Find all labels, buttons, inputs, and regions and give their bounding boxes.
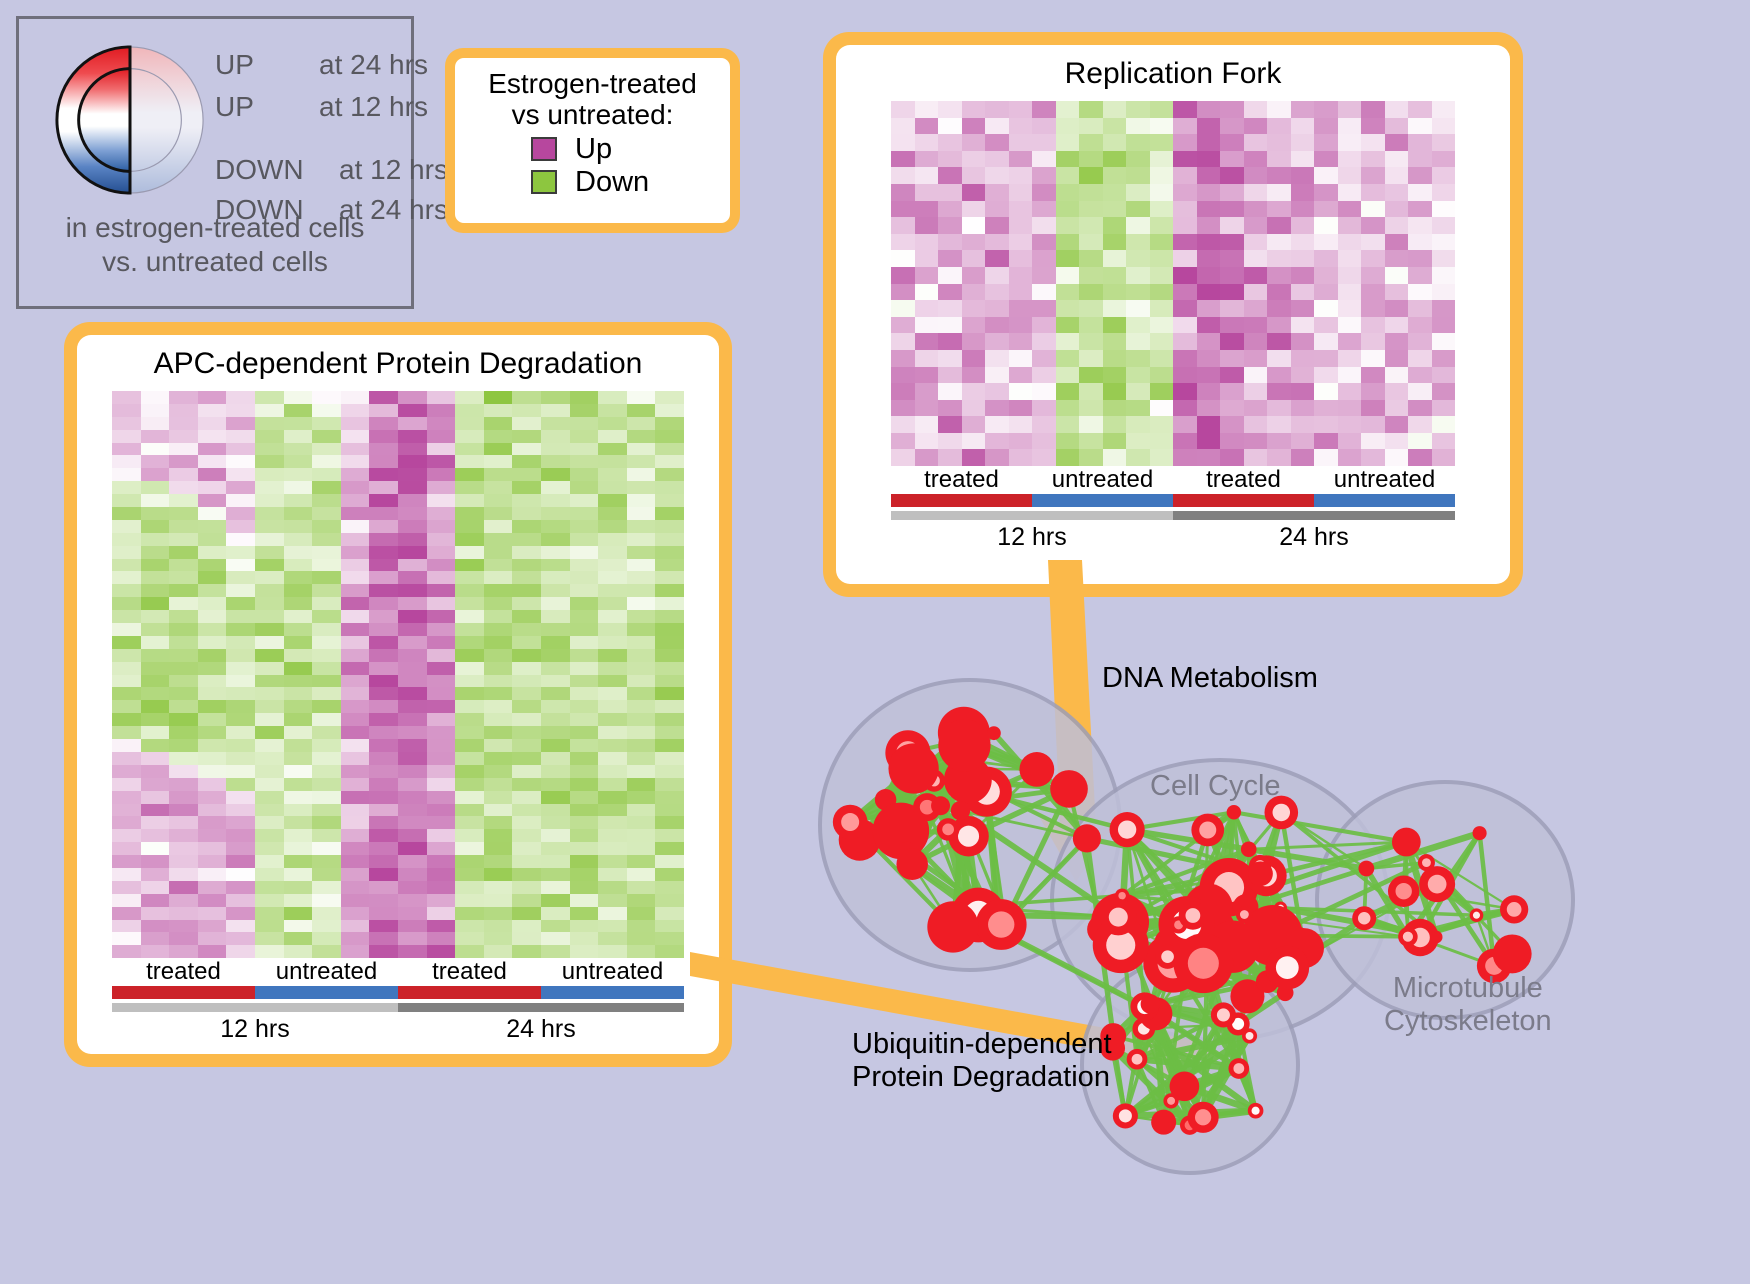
network-node[interactable]	[1211, 1002, 1236, 1027]
heatmap-cell	[112, 945, 141, 958]
heatmap-cell	[484, 829, 513, 842]
heatmap-cell	[398, 765, 427, 778]
heatmap-cell	[915, 118, 939, 135]
heatmap-cell	[255, 855, 284, 868]
heatmap-cell	[541, 494, 570, 507]
heatmap-cell	[655, 765, 684, 778]
heatmap-cell	[1408, 234, 1432, 251]
heatmap-cell	[627, 700, 656, 713]
heatmap-cell	[255, 559, 284, 572]
heatmap-cell	[1056, 284, 1080, 301]
heatmap-cell	[1173, 350, 1197, 367]
heatmap-cell	[1079, 167, 1103, 184]
heatmap-cell	[570, 881, 599, 894]
heatmap-cell	[169, 507, 198, 520]
heatmap-cell	[312, 636, 341, 649]
heatmap-cell	[1197, 367, 1221, 384]
heatmap-cell	[1267, 134, 1291, 151]
heatmap-cell	[255, 687, 284, 700]
heatmap-cell	[141, 430, 170, 443]
heatmap-cell	[1056, 234, 1080, 251]
network-node[interactable]	[1227, 805, 1241, 819]
network-node[interactable]	[1500, 895, 1528, 923]
network-node[interactable]	[1179, 901, 1207, 929]
heatmap-cell	[398, 430, 427, 443]
network-node[interactable]	[1187, 1102, 1218, 1133]
condition-label: untreated	[541, 958, 684, 986]
heatmap-cell	[627, 713, 656, 726]
heatmap-cell	[255, 932, 284, 945]
heatmap-cell	[1385, 400, 1409, 417]
heatmap-cell	[398, 571, 427, 584]
heatmap-cell	[341, 675, 370, 688]
heatmap-cell	[1244, 383, 1268, 400]
heatmap-cell	[985, 367, 1009, 384]
heatmap-cell	[1173, 284, 1197, 301]
heatmap-cell	[1173, 449, 1197, 466]
heatmap-cell	[369, 571, 398, 584]
heatmap-cell	[1103, 383, 1127, 400]
heatmap-cell	[398, 945, 427, 958]
heatmap-cell	[1150, 134, 1174, 151]
network-node[interactable]	[1392, 828, 1421, 857]
heatmap-cell	[1291, 134, 1315, 151]
network-node[interactable]	[1170, 1071, 1200, 1101]
heatmap-cell	[962, 383, 986, 400]
heatmap-cell	[1009, 167, 1033, 184]
heatmap-cell	[1338, 184, 1362, 201]
heatmap-cell	[891, 400, 915, 417]
heatmap-cell	[255, 881, 284, 894]
heatmap-cell	[1009, 433, 1033, 450]
apc-degradation-axis: treateduntreatedtreateduntreated12 hrs24…	[112, 958, 684, 1044]
heatmap-cell	[570, 907, 599, 920]
condition-label: treated	[1173, 466, 1314, 494]
heatmap-cell	[255, 920, 284, 933]
heatmap-cell	[985, 416, 1009, 433]
network-node[interactable]	[931, 796, 950, 815]
heatmap-cell	[1408, 284, 1432, 301]
heatmap-cell	[198, 739, 227, 752]
heatmap-cell	[112, 687, 141, 700]
heatmap-cell	[427, 894, 456, 907]
network-node[interactable]	[1236, 906, 1253, 923]
heatmap-cell	[627, 881, 656, 894]
heatmap-cell	[1361, 250, 1385, 267]
heatmap-cell	[1150, 300, 1174, 317]
heatmap-cell	[1197, 333, 1221, 350]
network-node[interactable]	[1110, 812, 1145, 847]
heatmap-cell	[312, 778, 341, 791]
heatmap-cell	[570, 752, 599, 765]
network-node[interactable]	[1050, 770, 1088, 808]
heatmap-cell	[541, 816, 570, 829]
heatmap-cell	[255, 700, 284, 713]
heatmap-cell	[1314, 167, 1338, 184]
heatmap-cell	[369, 804, 398, 817]
heatmap-cell	[1408, 184, 1432, 201]
heatmap-cell	[1032, 118, 1056, 135]
network-node[interactable]	[1191, 814, 1224, 847]
heatmap-cell	[226, 559, 255, 572]
heatmap-cell	[1432, 416, 1456, 433]
network-node[interactable]	[1470, 908, 1484, 922]
heatmap-cell	[1009, 234, 1033, 251]
heatmap-cell	[427, 855, 456, 868]
heatmap-cell	[312, 868, 341, 881]
heatmap-cell	[570, 546, 599, 559]
heatmap-cell	[341, 829, 370, 842]
heatmap-cell	[169, 739, 198, 752]
heatmap-cell	[141, 687, 170, 700]
heatmap-cell	[427, 868, 456, 881]
heatmap-cell	[169, 752, 198, 765]
heatmap-cell	[541, 391, 570, 404]
heatmap-cell	[112, 468, 141, 481]
heatmap-cell	[341, 816, 370, 829]
heatmap-cell	[484, 443, 513, 456]
network-node[interactable]	[888, 743, 938, 793]
heatmap-cell	[1338, 300, 1362, 317]
heatmap-cell	[1220, 300, 1244, 317]
heatmap-cell	[484, 700, 513, 713]
heatmap-cell	[226, 636, 255, 649]
heatmap-cell	[226, 932, 255, 945]
heatmap-cell	[169, 455, 198, 468]
network-node[interactable]	[938, 719, 990, 771]
heatmap-cell	[1220, 118, 1244, 135]
heatmap-cell	[1079, 400, 1103, 417]
heatmap-cell	[369, 455, 398, 468]
heatmap-cell	[1432, 151, 1456, 168]
heatmap-cell	[112, 481, 141, 494]
heatmap-cell	[1079, 184, 1103, 201]
heatmap-cell	[312, 443, 341, 456]
heatmap-cell	[398, 597, 427, 610]
heatmap-cell	[512, 932, 541, 945]
heatmap-cell	[1314, 217, 1338, 234]
heatmap-cell	[255, 662, 284, 675]
heatmap-cell	[1009, 333, 1033, 350]
heatmap-cell	[541, 700, 570, 713]
heatmap-cell	[226, 443, 255, 456]
replication-fork-axis: treateduntreatedtreateduntreated12 hrs24…	[891, 466, 1455, 552]
heatmap-cell	[915, 300, 939, 317]
network-node[interactable]	[1242, 1028, 1257, 1043]
heatmap-cell	[1432, 300, 1456, 317]
network-node[interactable]	[1493, 934, 1532, 973]
heatmap-cell	[398, 842, 427, 855]
heatmap-cell	[169, 571, 198, 584]
heatmap-cell	[627, 417, 656, 430]
heatmap-cell	[427, 584, 456, 597]
heatmap-cell	[169, 687, 198, 700]
heatmap-cell	[1032, 101, 1056, 118]
network-node[interactable]	[1127, 1049, 1148, 1070]
heatmap-cell	[512, 443, 541, 456]
heatmap-cell	[255, 636, 284, 649]
heatmap-cell	[570, 700, 599, 713]
heatmap-cell	[455, 546, 484, 559]
heatmap-cell	[169, 417, 198, 430]
network-node[interactable]	[1248, 861, 1273, 886]
heatmap-cell	[1220, 151, 1244, 168]
heatmap-cell	[369, 881, 398, 894]
network-node[interactable]	[1073, 824, 1101, 852]
heatmap-cell	[427, 829, 456, 842]
heatmap-cell	[1197, 151, 1221, 168]
heatmap-cell	[198, 443, 227, 456]
heatmap-cell	[1244, 234, 1268, 251]
heatmap-cell	[541, 791, 570, 804]
heatmap-cell	[1291, 250, 1315, 267]
heatmap-cell	[255, 391, 284, 404]
heatmap-cell	[398, 455, 427, 468]
heatmap-cell	[1197, 400, 1221, 417]
heatmap-cell	[1338, 350, 1362, 367]
heatmap-cell	[226, 404, 255, 417]
network-node[interactable]	[1358, 861, 1374, 877]
heatmap-cell	[1126, 118, 1150, 135]
heatmap-cell	[627, 404, 656, 417]
heatmap-cell	[598, 546, 627, 559]
heatmap-cell	[1408, 300, 1432, 317]
heatmap-cell	[541, 507, 570, 520]
heatmap-cell	[198, 520, 227, 533]
heatmap-cell	[369, 610, 398, 623]
heatmap-cell	[455, 842, 484, 855]
heatmap-cell	[284, 610, 313, 623]
heatmap-cell	[312, 662, 341, 675]
heatmap-cell	[198, 417, 227, 430]
heatmap-cell	[1150, 201, 1174, 218]
network-node[interactable]	[927, 901, 978, 952]
heatmap-cell	[455, 920, 484, 933]
network-node[interactable]	[1228, 1058, 1249, 1079]
heatmap-cell	[512, 623, 541, 636]
heatmap-cell	[484, 804, 513, 817]
heatmap-cell	[1150, 449, 1174, 466]
heatmap-cell	[484, 571, 513, 584]
heatmap-cell	[598, 791, 627, 804]
heatmap-cell	[1361, 416, 1385, 433]
heatmap-cell	[1267, 300, 1291, 317]
network-node[interactable]	[951, 801, 970, 820]
heatmap-cell	[627, 597, 656, 610]
heatmap-cell	[455, 700, 484, 713]
heatmap-cell	[541, 726, 570, 739]
heatmap-cell	[598, 687, 627, 700]
network-node[interactable]	[937, 818, 960, 841]
heatmap-cell	[938, 151, 962, 168]
heatmap-cell	[1032, 317, 1056, 334]
heatmap-cell	[627, 804, 656, 817]
heatmap-cell	[891, 101, 915, 118]
heatmap-cell	[369, 520, 398, 533]
heatmap-cell	[198, 662, 227, 675]
heatmap-cell	[226, 752, 255, 765]
heatmap-cell	[398, 829, 427, 842]
heatmap-cell	[1267, 449, 1291, 466]
heatmap-cell	[1291, 433, 1315, 450]
network-node[interactable]	[1265, 946, 1309, 990]
heatmap-cell	[598, 932, 627, 945]
heatmap-cell	[141, 932, 170, 945]
heatmap-cell	[512, 920, 541, 933]
heatmap-cell	[1173, 300, 1197, 317]
heatmap-cell	[312, 455, 341, 468]
heatmap-cell	[598, 804, 627, 817]
heatmap-cell	[1009, 449, 1033, 466]
network-node[interactable]	[1388, 875, 1419, 906]
network-node[interactable]	[1352, 906, 1376, 930]
heatmap-cell	[369, 945, 398, 958]
heatmap-cell	[962, 217, 986, 234]
heatmap-cell	[1314, 333, 1338, 350]
cluster-label-cell-cycle: Cell Cycle	[1150, 770, 1281, 803]
heatmap-cell	[341, 868, 370, 881]
heatmap-cell	[398, 881, 427, 894]
heatmap-cell	[284, 752, 313, 765]
heatmap-cell	[915, 167, 939, 184]
replication-fork-panel: Replication Fork treateduntreatedtreated…	[823, 32, 1523, 597]
heatmap-cell	[427, 765, 456, 778]
heatmap-cell	[112, 597, 141, 610]
heatmap-cell	[369, 713, 398, 726]
heatmap-cell	[112, 443, 141, 456]
network-node[interactable]	[896, 848, 928, 880]
heatmap-cell	[369, 481, 398, 494]
heatmap-cell	[369, 791, 398, 804]
heatmap-cell	[1009, 250, 1033, 267]
heatmap-cell	[655, 726, 684, 739]
heatmap-cell	[141, 455, 170, 468]
network-node[interactable]	[1473, 826, 1487, 840]
heatmap-cell	[455, 829, 484, 842]
timepoint-color-bar	[398, 1003, 684, 1012]
heatmap-cell	[198, 507, 227, 520]
heatmap-cell	[198, 894, 227, 907]
heatmap-cell	[1361, 134, 1385, 151]
heatmap-cell	[341, 791, 370, 804]
network-node[interactable]	[833, 805, 868, 840]
heatmap-cell	[938, 350, 962, 367]
heatmap-cell	[1361, 118, 1385, 135]
heatmap-cell	[891, 449, 915, 466]
heatmap-cell	[512, 430, 541, 443]
heatmap-cell	[891, 151, 915, 168]
heatmap-cell	[226, 726, 255, 739]
heatmap-cell	[112, 404, 141, 417]
heatmap-cell	[1385, 234, 1409, 251]
heatmap-cell	[1408, 101, 1432, 118]
heatmap-cell	[627, 829, 656, 842]
network-node[interactable]	[1248, 1103, 1264, 1119]
heatmap-cell	[398, 855, 427, 868]
heatmap-cell	[1244, 267, 1268, 284]
heatmap-cell	[1385, 167, 1409, 184]
heatmap-cell	[1432, 333, 1456, 350]
heatmap-cell	[255, 765, 284, 778]
heatmap-cell	[938, 217, 962, 234]
heatmap-cell	[598, 855, 627, 868]
heatmap-cell	[1338, 367, 1362, 384]
heatmap-cell	[255, 649, 284, 662]
heatmap-cell	[512, 391, 541, 404]
heatmap-cell	[1267, 383, 1291, 400]
network-node[interactable]	[1151, 1110, 1176, 1135]
heatmap-cell	[398, 404, 427, 417]
heatmap-cell	[1173, 267, 1197, 284]
heatmap-cell	[655, 559, 684, 572]
heatmap-cell	[985, 151, 1009, 168]
timepoint-label: 12 hrs	[891, 520, 1173, 552]
condition-color-bar	[1032, 494, 1173, 507]
heatmap-cell	[312, 881, 341, 894]
heatmap-cell	[112, 816, 141, 829]
heatmap-cell	[1009, 367, 1033, 384]
heatmap-cell	[198, 533, 227, 546]
network-node[interactable]	[1155, 945, 1179, 969]
heatmap-cell	[570, 675, 599, 688]
heatmap-cell	[985, 118, 1009, 135]
network-node[interactable]	[1173, 933, 1233, 993]
heatmap-cell	[541, 649, 570, 662]
network-node[interactable]	[1019, 752, 1054, 787]
heatmap-cell	[1244, 433, 1268, 450]
network-node[interactable]	[1398, 927, 1417, 946]
heatmap-cell	[341, 546, 370, 559]
heatmap-cell	[1103, 217, 1127, 234]
heatmap-cell	[1079, 350, 1103, 367]
heatmap-cell	[198, 945, 227, 958]
network-node[interactable]	[1113, 1103, 1138, 1128]
timepoint-label: 24 hrs	[1173, 520, 1455, 552]
heatmap-cell	[312, 842, 341, 855]
heatmap-cell	[112, 662, 141, 675]
heatmap-cell	[141, 571, 170, 584]
heatmap-cell	[1244, 300, 1268, 317]
heatmap-cell	[455, 597, 484, 610]
network-node[interactable]	[976, 899, 1027, 950]
heatmap-cell	[169, 829, 198, 842]
heatmap-cell	[141, 700, 170, 713]
heatmap-cell	[985, 383, 1009, 400]
heatmap-cell	[398, 739, 427, 752]
cluster-label-dna-metabolism: DNA Metabolism	[1102, 662, 1318, 695]
heatmap-cell	[938, 416, 962, 433]
heatmap-cell	[570, 894, 599, 907]
network-node[interactable]	[1141, 994, 1160, 1013]
heatmap-cell	[570, 507, 599, 520]
heatmap-cell	[570, 494, 599, 507]
heatmap-cell	[1126, 201, 1150, 218]
heatmap-cell	[938, 367, 962, 384]
heatmap-cell	[484, 520, 513, 533]
heatmap-cell	[369, 559, 398, 572]
heatmap-cell	[369, 546, 398, 559]
heatmap-cell	[655, 920, 684, 933]
heatmap-cell	[1408, 416, 1432, 433]
heatmap-cell	[1056, 167, 1080, 184]
heatmap-cell	[541, 533, 570, 546]
network-node[interactable]	[1100, 899, 1137, 936]
heatmap-cell	[1197, 416, 1221, 433]
heatmap-cell	[1244, 167, 1268, 184]
network-node[interactable]	[1419, 866, 1455, 902]
heatmap-cell	[1126, 101, 1150, 118]
network-node[interactable]	[1241, 841, 1257, 857]
